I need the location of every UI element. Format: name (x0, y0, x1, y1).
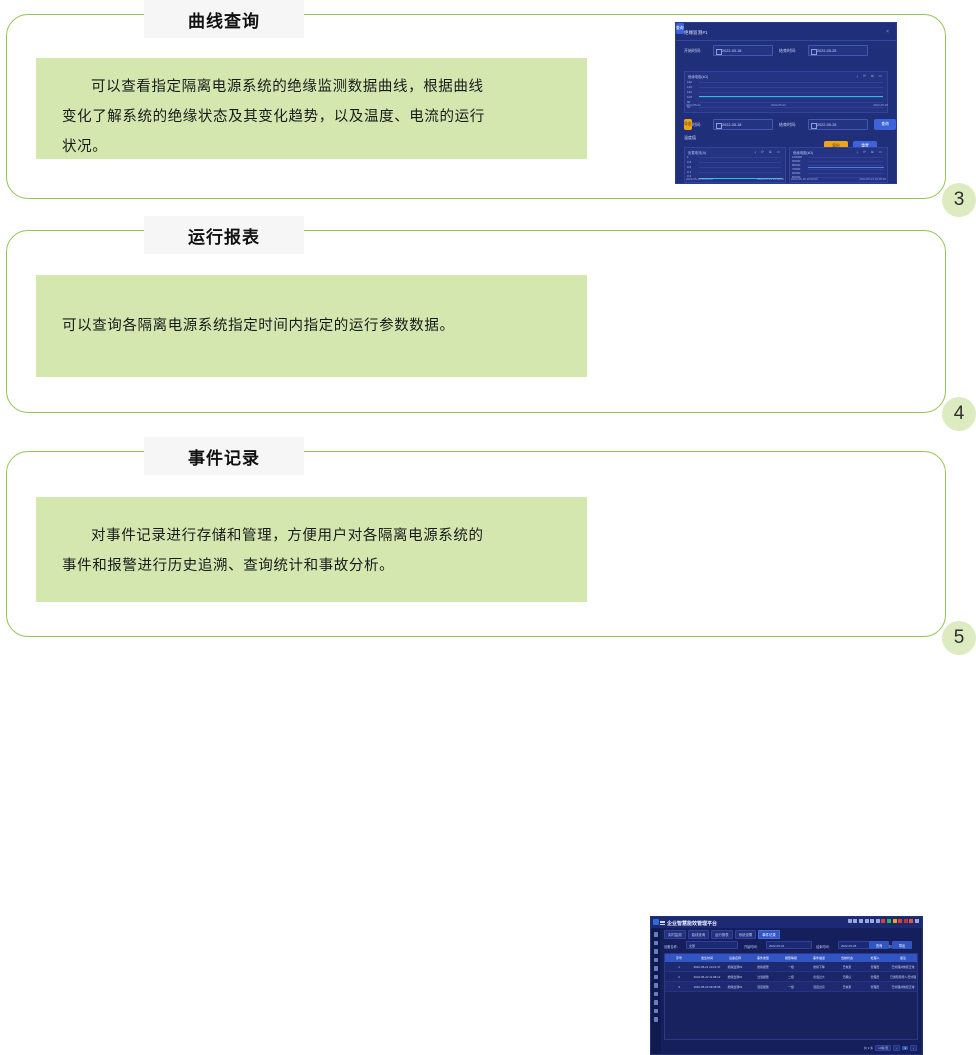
column-header: 备注 (889, 954, 917, 962)
gear-icon[interactable] (876, 919, 880, 923)
chart-series-line (699, 96, 883, 97)
query-button[interactable]: 查询 (676, 23, 684, 34)
calendar-icon (811, 49, 817, 55)
filter-bar: 设备名称: 全部 开始时间: 2022-05-01 结束时间: 2022-05-… (664, 941, 918, 950)
sidebar[interactable] (651, 928, 661, 1054)
cell: 已确认 (833, 972, 861, 981)
description-line: 可以查询各隔离电源系统指定时间内指定的运行参数数据。 (62, 311, 455, 341)
app-title: 企业智慧能效管理平台 (667, 920, 717, 927)
status-badge-green-icon[interactable] (887, 919, 891, 923)
query-button[interactable]: 查询 (869, 941, 889, 949)
column-header: 当前状态 (833, 954, 861, 962)
cell: 温度报警 (749, 982, 777, 991)
calendar-icon (811, 123, 817, 129)
close-icon[interactable]: × (886, 29, 889, 35)
chart-panel-left: 负载电流(A) ⤓ ⟳ ⧉ ▭ 1 0.8 0.6 0.4 0.2 2022-0… (684, 147, 786, 183)
step-number-badge: 5 (942, 621, 976, 655)
cell: 绝缘下降 (805, 962, 833, 971)
status-badge-darkred-icon[interactable] (904, 919, 908, 923)
user-avatar-icon[interactable] (915, 919, 919, 923)
end-time-value: 2022-05-25 (817, 123, 836, 127)
status-badge-orange-icon[interactable] (893, 919, 897, 923)
menu-toggle-icon[interactable] (660, 921, 665, 925)
sidebar-item-icon[interactable] (654, 941, 659, 946)
sidebar-item-icon[interactable] (654, 1017, 659, 1022)
sidebar-item-icon[interactable] (654, 966, 659, 971)
description-line: 状况。 (62, 132, 561, 162)
tab-curve[interactable]: 曲线查询 (688, 930, 710, 939)
step-number: 3 (954, 189, 965, 211)
status-badge-orangered-icon[interactable] (909, 919, 913, 923)
events-table: 序号 发生时间 设备名称 事件类型 报警等级 事件描述 当前状态 处理人 备注 … (664, 953, 918, 1040)
refresh-icon[interactable] (853, 919, 857, 923)
table-row[interactable]: 1 2022-05-21 10:21:37 绝缘监测#1 绝缘报警 一级 绝缘下… (665, 962, 917, 972)
section-run-report: 运行报表 可以查询各隔离电源系统指定时间内指定的运行参数数据。 绝缘监测#1 ×… (6, 216, 964, 428)
screenshot-curve-query: 绝缘监测#1 × 开始时间: 2022-05-18 结束时间: 2022-05-… (675, 22, 897, 184)
column-header: 序号 (665, 954, 693, 962)
y-tick: 120 (687, 90, 692, 94)
chart-panel-right: 绝缘电阻(kΩ) ⤓ ⟳ ⧉ ▭ 100000 90000 80000 7000… (789, 147, 888, 183)
y-tick: 0.8 (687, 160, 691, 164)
cell: 已处理并恢复正常 (889, 962, 917, 971)
prev-page-button[interactable]: ‹ (893, 1045, 900, 1051)
cell: 已通知现场人员处理 (889, 972, 917, 981)
chart-title: 负载电流(A) (688, 150, 706, 155)
header-icon-group[interactable] (848, 919, 919, 923)
step-number-badge: 4 (942, 397, 976, 431)
tab-realtime[interactable]: 实时监测 (664, 930, 686, 939)
export-button[interactable]: 导出 (892, 941, 912, 949)
sidebar-item-icon[interactable] (654, 975, 659, 980)
cell: 二级 (777, 972, 805, 981)
grid-icon[interactable] (870, 919, 874, 923)
status-badge-red2-icon[interactable] (898, 919, 902, 923)
page-size-select[interactable]: 10条/页 (875, 1045, 891, 1051)
sidebar-item-icon[interactable] (654, 1000, 659, 1005)
section-title: 事件记录 (188, 444, 260, 469)
cell: 绝缘监测#1 (721, 982, 749, 991)
cell: 一级 (777, 962, 805, 971)
start-time-input[interactable]: 2022-05-01 (766, 941, 812, 949)
description-line: 事件和报警进行历史追溯、查询统计和事故分析。 (62, 551, 561, 581)
cell: 温度过高 (805, 982, 833, 991)
search-icon[interactable] (848, 919, 852, 923)
start-time-input[interactable]: 2022-05-18 (713, 45, 773, 56)
y-tick: 160 (687, 80, 692, 84)
step-number: 4 (954, 403, 965, 425)
x-tick: 2022-05-24 20:00:00 (757, 177, 784, 181)
start-time-label: 开始时间: (744, 944, 758, 949)
tab-settings[interactable]: 系统设置 (735, 930, 757, 939)
cell: 3 (665, 982, 693, 991)
cell: 2022-05-23 09:45:06 (693, 982, 721, 991)
end-time-value: 2022-05-25 (817, 49, 836, 53)
end-time-label: 结束时间: (779, 48, 796, 54)
column-header: 事件描述 (805, 954, 833, 962)
table-row[interactable]: 3 2022-05-23 09:45:06 绝缘监测#1 温度报警 一级 温度过… (665, 982, 917, 992)
poster-page: 曲线查询 可以查看指定隔离电源系统的绝缘监测数据曲线，根据曲线 变化了解系统的绝… (0, 0, 976, 662)
y-tick: 100 (687, 95, 692, 99)
table-row[interactable]: 2 2022-05-22 11:08:12 绝缘监测#1 过载报警 二级 负载过… (665, 972, 917, 982)
x-tick: 2022-05-18 10:00:00 (686, 177, 713, 181)
chart-toolbar-icons[interactable]: ⤓ ⟳ ⧉ ▭ (856, 150, 884, 154)
column-header: 事件类型 (749, 954, 777, 962)
chart-toolbar-icons[interactable]: ⤓ ⟳ ⧉ ▭ (754, 150, 782, 154)
tab-events[interactable]: 事件记录 (758, 930, 780, 939)
description-line: 可以查看指定隔离电源系统的绝缘监测数据曲线，根据曲线 (62, 72, 561, 102)
tab-report[interactable]: 运行报表 (711, 930, 733, 939)
end-time-label: 结束时间: (816, 944, 830, 949)
current-page[interactable]: 1 (902, 1046, 908, 1050)
fullscreen-icon[interactable] (865, 919, 869, 923)
section-title: 曲线查询 (188, 7, 260, 32)
end-time-label: 结束时间: (779, 122, 796, 128)
cell: 管理员 (861, 982, 889, 991)
sidebar-item-icon[interactable] (654, 992, 659, 997)
end-time-input[interactable]: 2022-05-25 (808, 45, 868, 56)
tab-bar[interactable]: 实时监测 曲线查询 运行报表 系统设置 事件记录 (664, 930, 780, 939)
next-page-button[interactable]: › (910, 1045, 917, 1051)
cell: 绝缘监测#1 (721, 962, 749, 971)
cell: 绝缘监测#1 (721, 972, 749, 981)
filter-bar-top: 开始时间: 2022-05-18 结束时间: 2022-05-25 (684, 45, 888, 57)
cell: 已处理并恢复正常 (889, 982, 917, 991)
sidebar-item-icon[interactable] (654, 958, 659, 963)
description-line: 对事件记录进行存储和管理，方便用户对各隔离电源系统的 (62, 521, 561, 551)
y-tick: 1 (687, 155, 689, 159)
chart-toolbar-icons[interactable]: ⤓ ⟳ ⧉ ▭ (856, 74, 884, 78)
chart-series-line (808, 167, 884, 168)
column-header: 设备名称 (721, 954, 749, 962)
cell: 已恢复 (833, 962, 861, 971)
section-title: 运行报表 (188, 223, 260, 248)
start-time-value: 2022-05-18 (722, 49, 741, 53)
export-button[interactable]: 导出 (684, 119, 692, 130)
column-header: 报警等级 (777, 954, 805, 962)
column-header: 发生时间 (693, 954, 721, 962)
device-label: 设备名称: (664, 944, 678, 949)
query-button[interactable]: 查询 (874, 119, 896, 130)
description-line: 变化了解系统的绝缘状态及其变化趋势，以及温度、电流的运行 (62, 102, 561, 132)
cell: 过载报警 (749, 972, 777, 981)
table-header-row: 序号 发生时间 设备名称 事件类型 报警等级 事件描述 当前状态 处理人 备注 (665, 954, 917, 962)
cell: 绝缘报警 (749, 962, 777, 971)
step-number-badge: 3 (942, 183, 976, 217)
cell: 2022-05-22 11:08:12 (693, 972, 721, 981)
total-count-label: 共 3 条 (864, 1046, 873, 1050)
screenshot-event-record: 企业智慧能效管理平台 (650, 916, 923, 1055)
section-title-chip: 事件记录 (144, 437, 304, 475)
x-tick: 2022-05-25 (873, 103, 888, 107)
section-curve-query: 曲线查询 可以查看指定隔离电源系统的绝缘监测数据曲线，根据曲线 变化了解系统的绝… (6, 0, 964, 215)
y-tick: 140 (687, 85, 692, 89)
y-tick: 0.6 (687, 165, 691, 169)
calendar-icon (716, 49, 722, 55)
bell-icon[interactable] (859, 919, 863, 923)
cell: 2022-05-21 10:21:37 (693, 962, 721, 971)
section-title-chip: 运行报表 (144, 216, 304, 254)
calendar-icon (716, 123, 722, 129)
section-description: 对事件记录进行存储和管理，方便用户对各隔离电源系统的 事件和报警进行历史追溯、查… (36, 497, 587, 602)
cell: 管理员 (861, 972, 889, 981)
cell: 一级 (777, 982, 805, 991)
start-time-label: 开始时间: (684, 48, 701, 54)
x-tick: 2022-05-18 10:00:00 (791, 177, 818, 181)
sidebar-item-icon[interactable] (654, 932, 659, 937)
end-time-input[interactable]: 2022-05-25 (808, 119, 868, 130)
dialog-title: 绝缘监测#1 (684, 30, 708, 36)
alarm-badge-red-icon[interactable] (881, 919, 885, 923)
chart-panel-top: 绝缘电阻(kΩ) ⤓ ⟳ ⧉ ▭ 160 140 120 100 80 60 (684, 71, 888, 113)
x-tick: 2022-05-24 20:00:00 (859, 177, 886, 181)
cell: 管理员 (861, 962, 889, 971)
device-select[interactable]: 全部 (686, 941, 738, 949)
start-time-input[interactable]: 2022-05-18 (713, 119, 773, 130)
cell: 1 (665, 962, 693, 971)
cell: 已恢复 (833, 982, 861, 991)
sidebar-item-icon[interactable] (654, 1009, 659, 1014)
section-title-chip: 曲线查询 (144, 0, 304, 38)
section-description: 可以查询各隔离电源系统指定时间内指定的运行参数数据。 (36, 275, 587, 377)
pagination[interactable]: 共 3 条 10条/页 ‹ 1 › (864, 1045, 917, 1051)
sidebar-item-icon[interactable] (654, 949, 659, 954)
x-tick: 2022-05-22 (771, 103, 786, 107)
cell: 负载过大 (805, 972, 833, 981)
section-description: 可以查看指定隔离电源系统的绝缘监测数据曲线，根据曲线 变化了解系统的绝缘状态及其… (36, 58, 587, 159)
chart-title: 绝缘电阻(kΩ) (688, 74, 708, 79)
step-number: 5 (954, 627, 965, 649)
column-header: 处理人 (861, 954, 889, 962)
app-logo-icon (653, 919, 659, 925)
section-label-bottom: 温度值 (684, 135, 696, 141)
cell: 2 (665, 972, 693, 981)
section-event-record: 事件记录 对事件记录进行存储和管理，方便用户对各隔离电源系统的 事件和报警进行历… (6, 437, 964, 662)
x-tick: 2022-05-21 (686, 103, 701, 107)
sidebar-item-icon[interactable] (654, 983, 659, 988)
filter-bar-bottom: 开始时间: 2022-05-18 结束时间: 2022-05-25 查询 导出 (684, 119, 888, 131)
start-time-value: 2022-05-18 (722, 123, 741, 127)
